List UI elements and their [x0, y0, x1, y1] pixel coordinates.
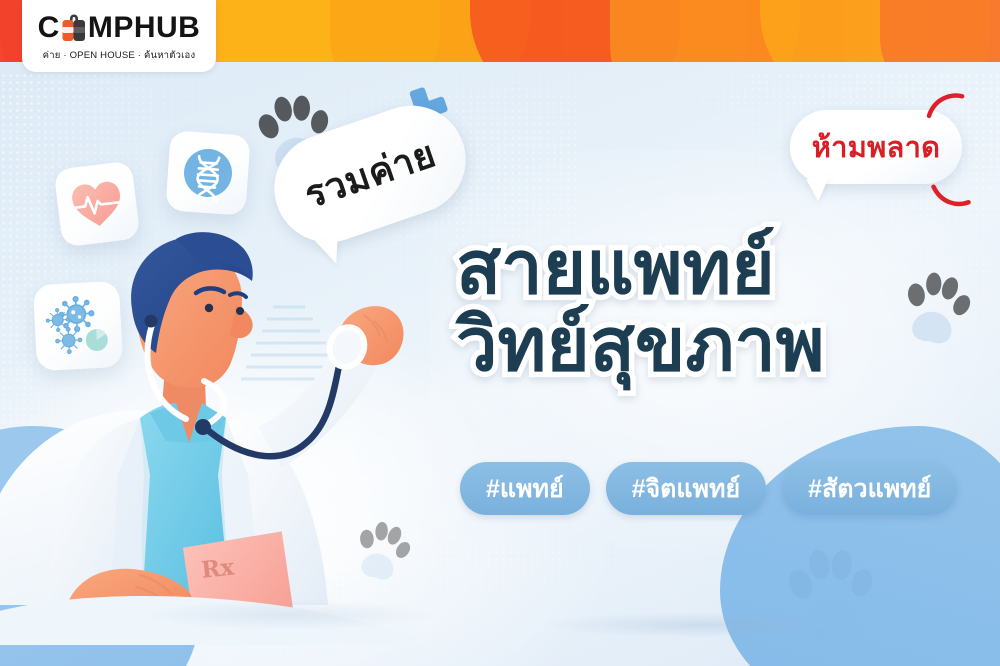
logo-wordmark: C MPHUB — [38, 13, 201, 43]
headline-line-2: วิทย์สุขภาพ — [456, 309, 996, 380]
promo-banner: C MPHUB ค่าย · OPEN HOUSE · ค้นหาตัวเอง — [0, 0, 1000, 666]
headline: สายแพทย์ วิทย์สุขภาพ — [456, 232, 996, 380]
hashtag-pill-1[interactable]: #แพทย์ — [460, 462, 590, 515]
backpack-icon — [61, 13, 87, 43]
camphub-logo[interactable]: C MPHUB ค่าย · OPEN HOUSE · ค้นหาตัวเอง — [22, 0, 216, 72]
headline-line-1: สายแพทย์ — [456, 232, 996, 303]
paw-print-icon — [776, 542, 883, 659]
rx-label: Rx — [200, 554, 236, 584]
speech-bubble-hamplaad: ห้ามพลาด — [790, 110, 962, 184]
logo-text-post: MPHUB — [88, 13, 201, 43]
ground-shadow — [540, 612, 870, 638]
logo-tagline: ค่าย · OPEN HOUSE · ค้นหาตัวเอง — [43, 48, 196, 63]
topbar-shape — [880, 0, 1000, 62]
hashtag-pill-2[interactable]: #จิตแพทย์ — [606, 462, 767, 515]
hashtag-pill-3[interactable]: #สัตวแพทย์ — [782, 462, 957, 515]
doctor-illustration: Rx — [0, 175, 460, 645]
ground-shadow-left — [140, 600, 440, 630]
hashtag-list: #แพทย์ #จิตแพทย์ #สัตวแพทย์ — [460, 462, 957, 515]
bubble-text: ห้ามพลาด — [790, 110, 962, 184]
accent-swoosh-icon — [929, 181, 973, 210]
halftone-dots-midcenter — [430, 500, 660, 620]
logo-text-pre: C — [38, 13, 60, 43]
